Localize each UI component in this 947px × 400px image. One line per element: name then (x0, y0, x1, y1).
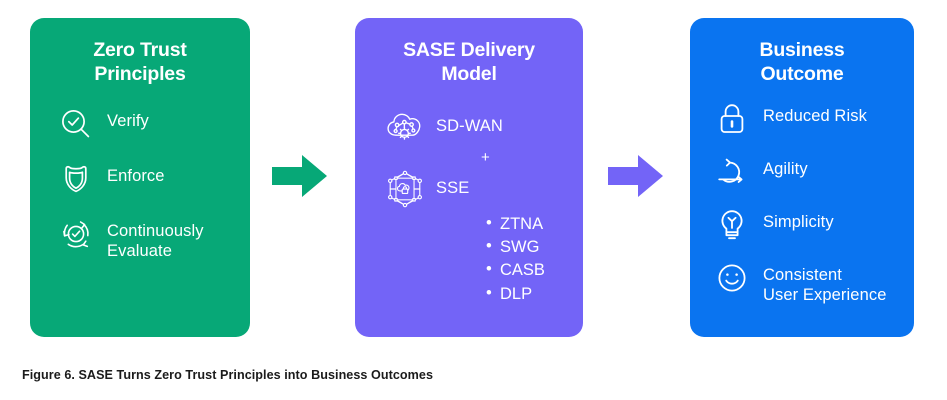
list-item-label: SD-WAN (425, 107, 503, 137)
list-item-label: Reduced Risk (752, 99, 867, 127)
panel-zero-trust-items: Verify Enforce (30, 104, 250, 263)
list-item-enforce: Enforce (56, 159, 250, 199)
list-item-consistent-user-experience: Consistent User Experience (712, 258, 914, 307)
list-item-verify: Verify (56, 104, 250, 144)
list-item-sse: SSE (385, 169, 583, 209)
list-item-label: Enforce (96, 159, 165, 187)
panel-zero-trust-principles: Zero Trust Principles Verify (30, 18, 250, 337)
panel-sase-title: SASE Delivery Model (355, 39, 583, 87)
list-item-label: Agility (752, 152, 808, 180)
agility-loop-icon (712, 152, 752, 192)
figure-caption: Figure 6. SASE Turns Zero Trust Principl… (22, 368, 433, 382)
hexagon-mesh-cloud-lock-icon (385, 169, 425, 209)
shield-badge-icon (56, 159, 96, 199)
plus-separator: + (385, 150, 583, 165)
list-item-label: SSE (425, 169, 469, 199)
cloud-gear-network-icon (385, 107, 425, 147)
refresh-check-icon (56, 214, 96, 254)
list-item-label: Consistent User Experience (752, 258, 886, 307)
panel-business-outcome-title: Business Outcome (690, 39, 914, 87)
list-item-agility: Agility (712, 152, 914, 192)
arrow-zero-trust-to-sase (272, 150, 328, 202)
arrow-sase-to-outcome (608, 150, 664, 202)
sase-sub-items: ZTNA SWG CASB DLP (385, 213, 583, 307)
list-item-label: Simplicity (752, 205, 834, 233)
list-item-sd-wan: SD-WAN (385, 107, 583, 147)
list-item: CASB (486, 259, 583, 282)
list-item: SWG (486, 236, 583, 259)
panel-sase-delivery-model: SASE Delivery Model (355, 18, 583, 337)
panel-business-outcome: Business Outcome Reduced Risk (690, 18, 914, 337)
magnifier-check-icon (56, 104, 96, 144)
smiley-face-icon (712, 258, 752, 298)
list-item-label: Verify (96, 104, 149, 132)
lightbulb-icon (712, 205, 752, 245)
panel-zero-trust-title: Zero Trust Principles (30, 39, 250, 87)
panel-sase-items: SD-WAN + (355, 107, 583, 307)
list-item: ZTNA (486, 213, 583, 236)
list-item-continuously-evaluate: Continuously Evaluate (56, 214, 250, 263)
panel-business-outcome-items: Reduced Risk Agility (690, 99, 914, 307)
list-item-label: Continuously Evaluate (96, 214, 204, 263)
list-item-reduced-risk: Reduced Risk (712, 99, 914, 139)
list-item: DLP (486, 283, 583, 306)
list-item-simplicity: Simplicity (712, 205, 914, 245)
padlock-icon (712, 99, 752, 139)
sase-flow-diagram: Zero Trust Principles Verify (0, 0, 947, 360)
